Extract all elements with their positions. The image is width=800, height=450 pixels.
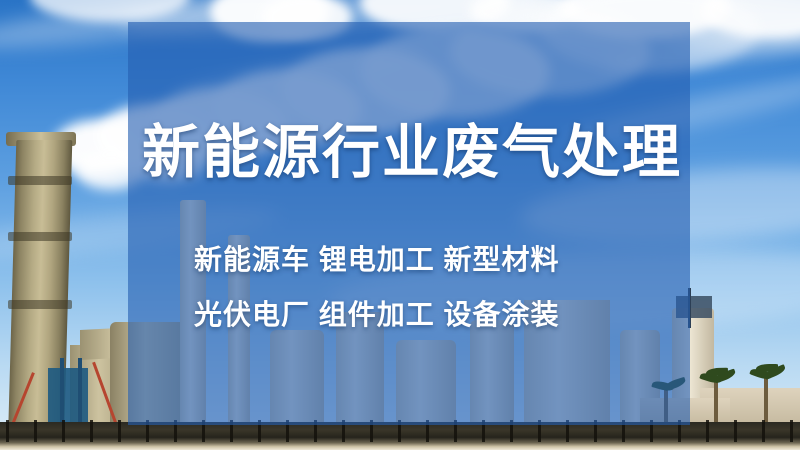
smokestack-band	[8, 232, 72, 241]
banner-subtitle-line-1: 新能源车 锂电加工 新型材料	[194, 246, 560, 274]
smokestack-band	[8, 300, 72, 309]
banner-headline: 新能源行业废气处理	[142, 124, 682, 182]
banner-text-layer: 新能源行业废气处理 新能源车 锂电加工 新型材料 光伏电厂 组件加工 设备涂装	[128, 22, 690, 425]
banner-subtitle-line-2: 光伏电厂 组件加工 设备涂装	[194, 301, 560, 329]
promo-banner: 新能源行业废气处理 新能源车 锂电加工 新型材料 光伏电厂 组件加工 设备涂装	[0, 0, 800, 450]
smokestack-band	[8, 176, 72, 185]
palm-tree	[764, 374, 768, 426]
palm-tree	[714, 378, 718, 426]
